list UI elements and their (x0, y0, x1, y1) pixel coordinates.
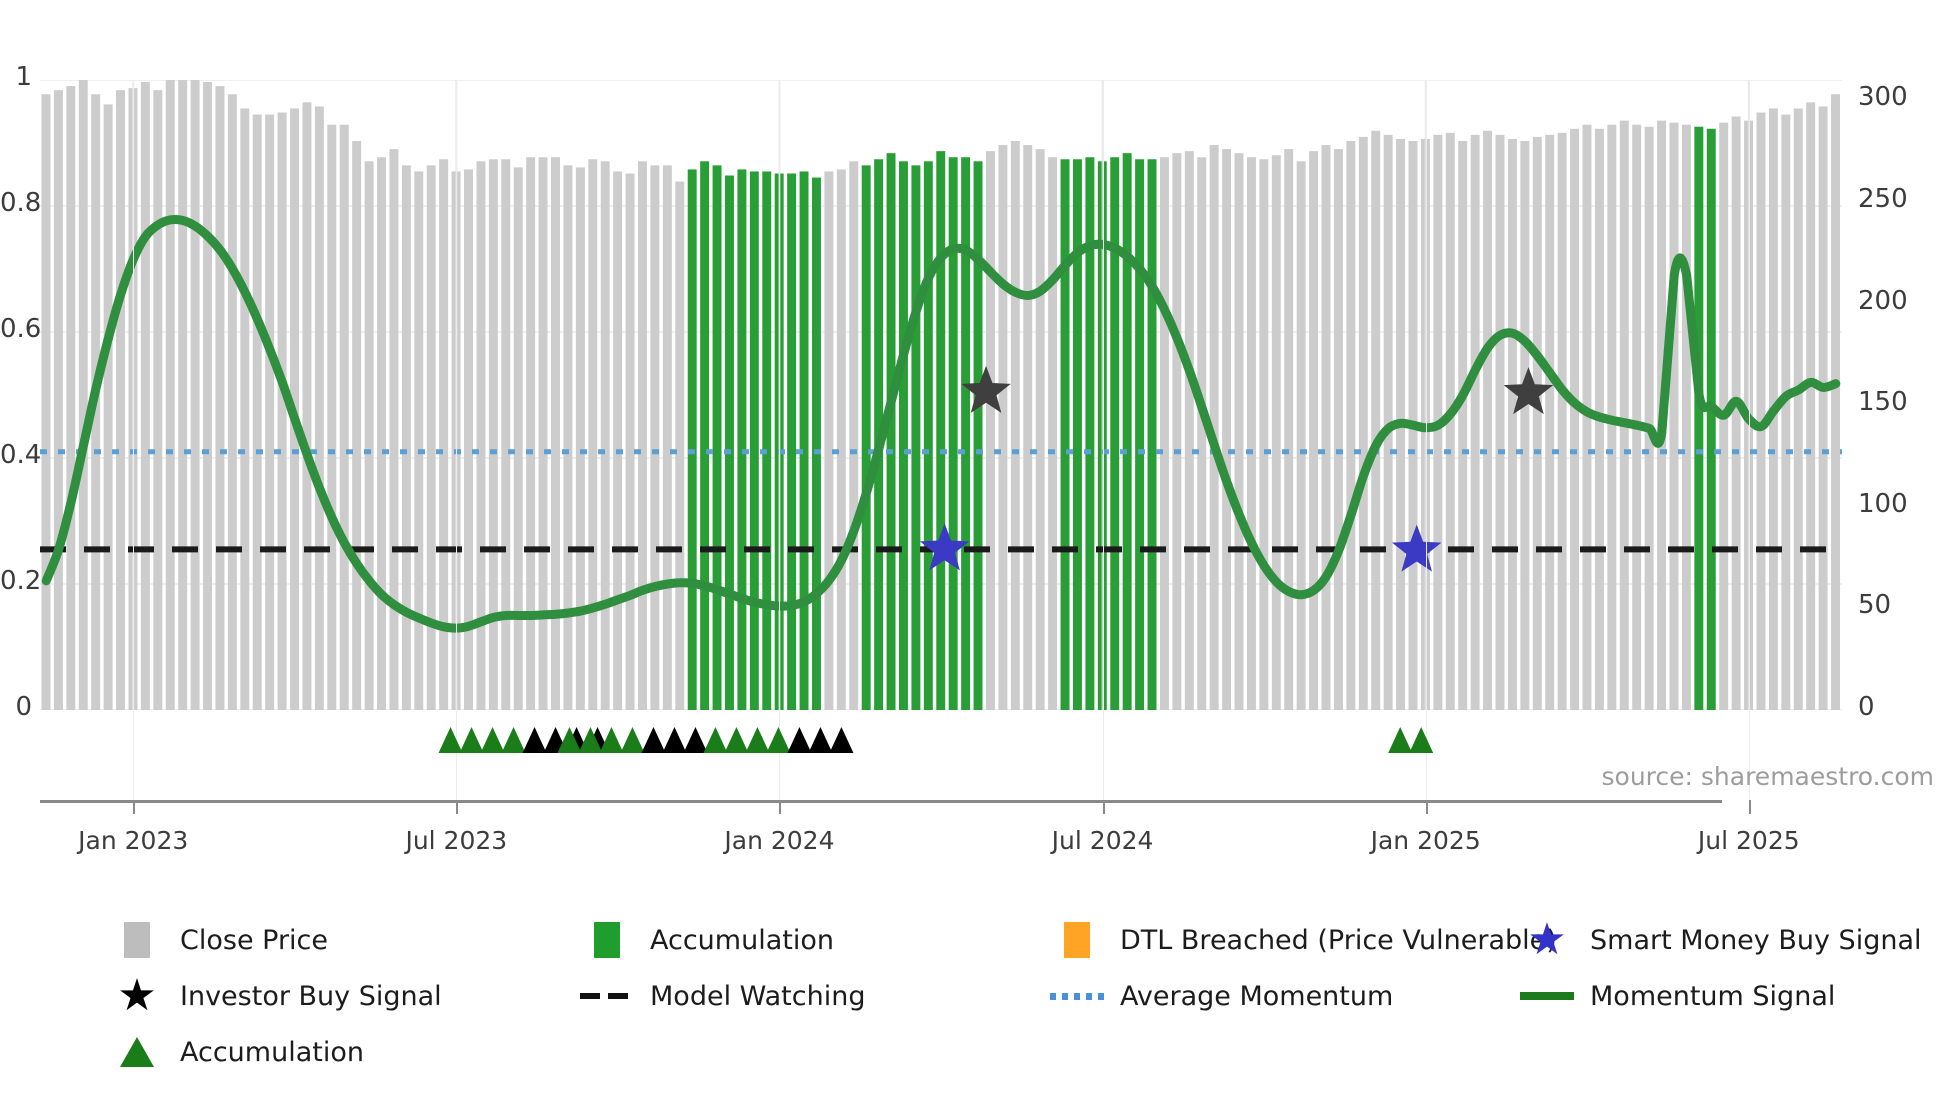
y-axis-right-tick: 300 (1858, 84, 1908, 110)
close-price-bar (1371, 131, 1380, 710)
x-axis-spine (40, 800, 1722, 803)
legend-label: Smart Money Buy Signal (1590, 925, 1922, 956)
y-axis-right-tick: 100 (1858, 491, 1908, 517)
close-price-bar (265, 115, 274, 710)
close-price-bar (1558, 133, 1567, 710)
accumulation-triangle-black (829, 727, 853, 753)
accumulation-triangle-green (724, 727, 748, 753)
close-price-bar (240, 108, 249, 710)
close-price-bar (526, 157, 535, 710)
close-price-bar (1508, 139, 1517, 710)
legend-label: Average Momentum (1120, 981, 1393, 1012)
accumulation-bar (1707, 129, 1716, 710)
close-price-bar (141, 82, 150, 710)
accumulation-triangle-green (481, 727, 505, 753)
close-price-bar (1334, 149, 1343, 710)
close-price-bar (1048, 157, 1057, 710)
close-price-bar (837, 169, 846, 710)
x-gridline (1103, 80, 1104, 800)
accumulation-bar (936, 151, 945, 710)
close-price-bar (41, 94, 50, 710)
close-price-bar (1172, 153, 1181, 710)
legend-label: Model Watching (650, 981, 865, 1012)
close-price-bar (1794, 108, 1803, 710)
close-price-bar (1011, 141, 1020, 710)
accumulation-bar (688, 169, 697, 710)
close-price-bar (1247, 157, 1256, 710)
close-price-bar (663, 165, 672, 710)
accumulation-triangle-green (745, 727, 769, 753)
legend-smart-money-buy[interactable]: ★Smart Money Buy Signal (1520, 920, 1920, 960)
dot-segment (1050, 993, 1056, 1000)
accumulation-bar (862, 165, 871, 710)
close-price-bar (1632, 125, 1641, 710)
close-price-bar (1520, 141, 1529, 710)
legend-momentum-signal[interactable]: Momentum Signal (1520, 976, 1920, 1016)
square-icon (1064, 922, 1090, 958)
y-axis-left-tick: 0 (0, 694, 32, 720)
close-price-bar (626, 173, 635, 710)
legend-label: Accumulation (180, 1037, 364, 1068)
legend-label: DTL Breached (Price Vulnerable) (1120, 925, 1557, 956)
close-price-bar (1620, 121, 1629, 710)
accumulation-bar (974, 161, 983, 710)
close-price-bar (1359, 137, 1368, 710)
dash-segment (608, 993, 628, 999)
triangle-icon (110, 1033, 164, 1071)
y-axis-right-tick: 50 (1858, 592, 1891, 618)
dotted-line-icon (1050, 977, 1104, 1015)
square-swatch-icon (580, 921, 634, 959)
star-icon: ★ (1520, 921, 1574, 959)
close-price-bar (1297, 161, 1306, 710)
close-price-bar (104, 104, 113, 710)
close-price-bar (1322, 145, 1331, 710)
close-price-bar (352, 141, 361, 710)
accumulation-bar (899, 161, 908, 710)
close-price-bar (1036, 149, 1045, 710)
dot-segment (1086, 993, 1092, 1000)
accumulation-triangle-black (683, 727, 707, 753)
close-price-bar (402, 165, 411, 710)
accumulation-bar (1110, 157, 1119, 710)
close-price-bar (1284, 149, 1293, 710)
y-axis-right-tick: 0 (1858, 694, 1875, 720)
x-axis-tick-mark (779, 800, 781, 814)
accumulation-bar (1073, 159, 1082, 710)
close-price-bar (340, 125, 349, 710)
y-axis-left-tick: 0.6 (0, 316, 32, 342)
accumulation-bar (812, 178, 821, 710)
accumulation-bar (1085, 157, 1094, 710)
legend-accumulation-triangle[interactable]: Accumulation (110, 1032, 580, 1072)
x-axis-tick-mark (1103, 800, 1105, 814)
x-axis-tick-label: Jan 2024 (724, 826, 834, 855)
accumulation-bar (713, 165, 722, 710)
close-price-bar (414, 171, 423, 710)
accumulation-bar (1135, 159, 1144, 710)
close-price-bar (1023, 145, 1032, 710)
accumulation-bar (800, 171, 809, 710)
dash-wrap (580, 993, 634, 999)
chart-legend: Close PriceAccumulationDTL Breached (Pri… (110, 920, 1920, 1072)
accumulation-triangle-row (40, 715, 1842, 795)
legend-investor-buy[interactable]: ★Investor Buy Signal (110, 976, 580, 1016)
legend-model-watching[interactable]: Model Watching (580, 976, 1050, 1016)
close-price-bar (1645, 127, 1654, 710)
close-price-bar (377, 157, 386, 710)
x-axis-tick-mark (456, 800, 458, 814)
dot-segment (1098, 993, 1104, 1000)
legend-dtl-breached[interactable]: DTL Breached (Price Vulnerable) (1050, 920, 1520, 960)
close-price-bar (551, 157, 560, 710)
accumulation-bar (1148, 159, 1157, 710)
legend-label: Accumulation (650, 925, 834, 956)
y-axis-left-tick: 0.8 (0, 190, 32, 216)
accumulation-bar (725, 176, 734, 710)
legend-label: Close Price (180, 925, 328, 956)
legend-label: Momentum Signal (1590, 981, 1835, 1012)
y-axis-left-tick: 0.2 (0, 568, 32, 594)
close-price-bar (1670, 123, 1679, 710)
close-price-bar (1496, 135, 1505, 710)
star-glyph: ★ (1527, 921, 1566, 959)
x-axis-tick-mark (1426, 800, 1428, 814)
x-axis-tick-label: Jul 2023 (405, 826, 507, 855)
square-swatch-icon (1050, 921, 1104, 959)
close-price-bar (986, 151, 995, 710)
close-price-bar (66, 86, 75, 710)
accumulation-triangle-green (1388, 727, 1412, 753)
chart-root: 00.20.40.60.81 050100150200250300 Jan 20… (0, 0, 1960, 1102)
accumulation-bar (750, 171, 759, 710)
accumulation-triangle-green (620, 727, 644, 753)
accumulation-bar (949, 157, 958, 710)
accumulation-bar (924, 161, 933, 710)
close-price-bar (1197, 157, 1206, 710)
accumulation-triangle-black (808, 727, 832, 753)
y-axis-right-tick: 200 (1858, 288, 1908, 314)
close-price-bar (166, 80, 175, 710)
accumulation-bar (700, 161, 709, 710)
close-price-bar (563, 165, 572, 710)
close-price-bar (1756, 113, 1765, 710)
chart-canvas (40, 80, 1842, 710)
accumulation-bar (1061, 159, 1070, 710)
close-price-bar (302, 102, 311, 710)
close-price-bar (365, 161, 374, 710)
x-axis-tick-mark (133, 800, 135, 814)
plot-area (40, 80, 1842, 710)
x-axis-tick-label: Jan 2025 (1371, 826, 1481, 855)
close-price-bar (1160, 157, 1169, 710)
close-price-bar (1272, 155, 1281, 710)
close-price-bar (638, 161, 647, 710)
close-price-bar (228, 94, 237, 710)
close-price-bar (1346, 141, 1355, 710)
legend-close-price[interactable]: Close Price (110, 920, 580, 960)
square-icon (594, 922, 620, 958)
close-price-bar (1533, 137, 1542, 710)
close-price-bar (601, 161, 610, 710)
dot-wrap (1050, 993, 1104, 1000)
close-price-bar (1732, 117, 1741, 710)
close-price-bar (576, 167, 585, 710)
close-price-bar (998, 145, 1007, 710)
x-axis-tick-label: Jul 2024 (1052, 826, 1154, 855)
solid-line-icon (1520, 977, 1574, 1015)
close-price-bar (389, 149, 398, 710)
dot-segment (1074, 993, 1080, 1000)
legend-accumulation-bar[interactable]: Accumulation (580, 920, 1050, 960)
close-price-bar (539, 157, 548, 710)
close-price-bar (1781, 115, 1790, 710)
close-price-bar (675, 182, 684, 710)
x-gridline (1749, 80, 1750, 800)
solid-line-glyph (1520, 992, 1574, 1000)
square-icon (124, 922, 150, 958)
close-price-bar (650, 165, 659, 710)
close-price-bar (1259, 159, 1268, 710)
dashed-line-icon (580, 977, 634, 1015)
x-gridline (779, 80, 780, 800)
accumulation-bar (911, 165, 920, 710)
close-price-bar (613, 171, 622, 710)
x-axis-tick-label: Jul 2025 (1698, 826, 1800, 855)
close-price-bar (514, 167, 523, 710)
close-price-bar (1682, 125, 1691, 710)
x-gridline (1426, 80, 1427, 800)
close-price-bar (327, 125, 336, 710)
close-price-bar (215, 86, 224, 710)
accumulation-triangle-green (766, 727, 790, 753)
accumulation-triangle-green (439, 727, 463, 753)
close-price-bar (315, 106, 324, 710)
close-price-bar (116, 90, 125, 710)
accumulation-triangle-black (523, 727, 547, 753)
source-note: source: sharemaestro.com (1602, 762, 1935, 791)
x-gridline (456, 80, 457, 800)
close-price-bar (153, 90, 162, 710)
close-price-bar (1819, 106, 1828, 710)
accumulation-triangle-green (502, 727, 526, 753)
accumulation-triangle-black (662, 727, 686, 753)
x-axis-tick-mark (1749, 800, 1751, 814)
close-price-bar (1806, 102, 1815, 710)
close-price-bar (1222, 149, 1231, 710)
dash-segment (580, 993, 600, 999)
close-price-bar (253, 115, 262, 710)
x-gridline (133, 80, 134, 800)
accumulation-bar (787, 173, 796, 710)
dot-segment (1062, 993, 1068, 1000)
close-price-bar (1458, 141, 1467, 710)
accumulation-bar (762, 171, 771, 710)
close-price-bar (1831, 94, 1840, 710)
square-swatch-icon (110, 921, 164, 959)
close-price-bar (1545, 135, 1554, 710)
y-axis-right-tick: 250 (1858, 186, 1908, 212)
accumulation-bar (737, 169, 746, 710)
y-axis-left-tick: 1 (0, 64, 32, 90)
close-price-bar (1309, 151, 1318, 710)
triangle-glyph (120, 1037, 154, 1067)
close-price-bar (1235, 153, 1244, 710)
legend-label: Investor Buy Signal (180, 981, 442, 1012)
close-price-bar (203, 82, 212, 710)
accumulation-triangle-green (460, 727, 484, 753)
close-price-bar (178, 80, 187, 710)
close-price-bar (489, 159, 498, 710)
close-price-bar (1483, 131, 1492, 710)
close-price-bar (1570, 129, 1579, 710)
close-price-bar (79, 80, 88, 710)
accumulation-triangle-black (641, 727, 665, 753)
y-axis-left-tick: 0.4 (0, 442, 32, 468)
close-price-bar (588, 159, 597, 710)
accumulation-bar (961, 157, 970, 710)
close-price-bar (54, 90, 63, 710)
close-price-bar (501, 159, 510, 710)
star-glyph: ★ (117, 977, 156, 1015)
close-price-bar (1185, 151, 1194, 710)
accumulation-bar (1123, 153, 1132, 710)
legend-average-momentum[interactable]: Average Momentum (1050, 976, 1520, 1016)
x-axis-tick-label: Jan 2023 (78, 826, 188, 855)
close-price-bar (191, 80, 200, 710)
close-price-bar (1471, 135, 1480, 710)
star-icon: ★ (110, 977, 164, 1015)
accumulation-bar (1694, 127, 1703, 710)
y-axis-right-tick: 150 (1858, 389, 1908, 415)
accumulation-triangle-green (1409, 727, 1433, 753)
accumulation-triangle-black (787, 727, 811, 753)
close-price-bar (278, 113, 287, 710)
close-price-bar (824, 171, 833, 710)
close-price-bar (849, 161, 858, 710)
accumulation-triangle-green (703, 727, 727, 753)
